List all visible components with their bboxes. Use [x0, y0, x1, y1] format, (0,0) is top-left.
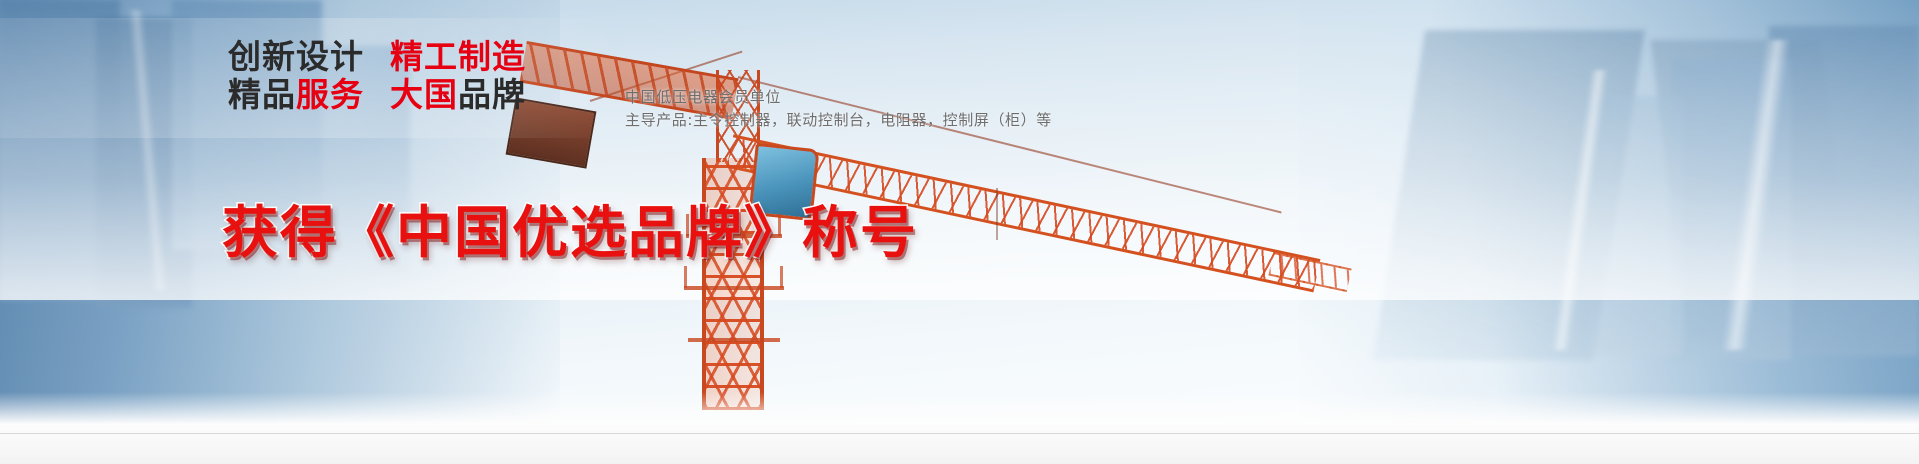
- crane-platform: [688, 338, 780, 342]
- description-line-membership: 中国低压电器会员单位: [625, 86, 1052, 109]
- slogan-text-quality: 精品: [228, 76, 296, 114]
- promo-banner: 创新设计 精工制造 精品 服务 大国 品牌 中国低压电器会员单位 主导产品:主令…: [0, 0, 1919, 464]
- crane-railing: [780, 266, 783, 288]
- slogan-text-service: 服务: [296, 76, 364, 114]
- slogan-line-2: 精品 服务 大国 品牌: [228, 76, 526, 114]
- slogan-block: 创新设计 精工制造 精品 服务 大国 品牌: [228, 38, 526, 115]
- award-headline: 获得《中国优选品牌》称号: [222, 188, 918, 269]
- slogan-text-brand: 品牌: [458, 76, 526, 114]
- slogan-text-manufacturing: 精工制造: [390, 38, 526, 76]
- slogan-line-1: 创新设计 精工制造: [228, 38, 526, 76]
- banner-bottom-divider: [0, 433, 1919, 434]
- slogan-text-innovation: 创新设计: [228, 38, 364, 76]
- crane-platform: [684, 286, 784, 290]
- crane-railing: [684, 266, 687, 288]
- company-description: 中国低压电器会员单位 主导产品:主令控制器，联动控制台，电阻器，控制屏（柜）等: [625, 86, 1052, 133]
- description-line-products: 主导产品:主令控制器，联动控制台，电阻器，控制屏（柜）等: [625, 109, 1052, 132]
- banner-bottom-fade: [0, 392, 1919, 464]
- crane-hoist-line: [996, 188, 998, 240]
- slogan-text-nation: 大国: [390, 76, 458, 114]
